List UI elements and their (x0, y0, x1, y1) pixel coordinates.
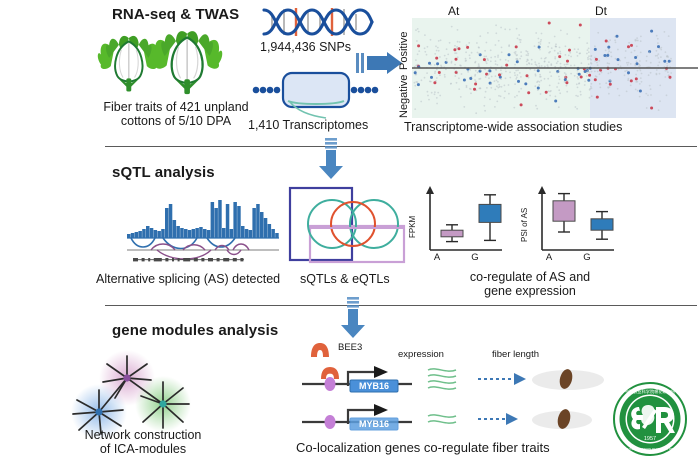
caption-transcriptomes: 1,410 Transcriptomes (248, 118, 368, 132)
caption-sqtls-eqtls: sQTLs & eQTLs (300, 272, 390, 286)
gene-regulation-row-high: MYB16 (300, 362, 600, 396)
cotton-boll-illustrations (96, 30, 236, 108)
arrow-down-panel1-panel2 (318, 138, 344, 180)
boxplot-fpkm-ylabel: FPKM (408, 198, 417, 238)
panel-title-gene-modules-analysis: gene modules analysis (112, 322, 278, 339)
caption-network-line2: of ICA-modules (78, 442, 208, 458)
svg-text:中国农业科学院棉花研究所: 中国农业科学院棉花研究所 (625, 388, 675, 395)
divider-panel1-panel2 (105, 146, 697, 147)
label-fiber-length: fiber length (492, 349, 539, 360)
boxplot-psi-tick-g: G (580, 252, 594, 263)
twas-region-label-at: At (448, 4, 459, 18)
institute-logo: 1957 中国农业科学院棉花研究所 INSTITUTE OF COTTON RE… (612, 381, 688, 457)
sqtl-eqtl-venn-diagram (288, 186, 408, 272)
arrow-down-panel2-panel3 (340, 297, 366, 339)
divider-panel2-panel3 (105, 305, 697, 306)
twas-axis-label-positive: Positive (398, 24, 410, 70)
svg-text:MYB16: MYB16 (359, 419, 389, 429)
twas-region-label-dt: Dt (595, 4, 607, 18)
boxplot-psi-ylabel: PSI of AS (520, 196, 529, 242)
caption-as-detected: Alternative splicing (AS) detected (96, 272, 280, 286)
alternative-splicing-track-plot (127, 194, 279, 266)
caption-coregulate-line2: gene expression (430, 284, 630, 300)
label-expression: expression (398, 349, 444, 360)
caption-twas: Transcriptome-wide association studies (404, 120, 622, 134)
caption-cotton-line2: cottons of 5/10 DPA (96, 114, 256, 130)
label-bee3: BEE3 (338, 342, 362, 353)
boxplot-fpkm-tick-a: A (430, 252, 444, 263)
svg-text:1957: 1957 (644, 436, 656, 442)
caption-snps: 1,944,436 SNPs (260, 40, 351, 54)
caption-colocalization: Co-localization genes co-regulate fiber … (296, 440, 550, 455)
ica-module-network-diagram (55, 352, 230, 437)
boxplot-fpkm (412, 180, 508, 262)
twas-scatter-plot (412, 18, 700, 118)
arrow-right-to-twas (356, 52, 404, 78)
panel-title-sqtl-analysis: sQTL analysis (112, 164, 215, 181)
svg-text:MYB16: MYB16 (359, 381, 389, 391)
tf-protein-icon (310, 342, 330, 358)
panel-title-rna-seq-twas: RNA-seq & TWAS (112, 6, 239, 23)
gene-regulation-row-low: MYB16 (300, 400, 600, 434)
dna-double-helix-icon (262, 4, 374, 40)
boxplot-fpkm-tick-g: G (468, 252, 482, 263)
twas-axis-label-negative: Negative (398, 70, 410, 118)
boxplot-psi (524, 180, 620, 262)
svg-text:INSTITUTE OF COTTON RESEARCH O: INSTITUTE OF COTTON RESEARCH OF CAAS (618, 447, 681, 451)
boxplot-psi-tick-a: A (542, 252, 556, 263)
